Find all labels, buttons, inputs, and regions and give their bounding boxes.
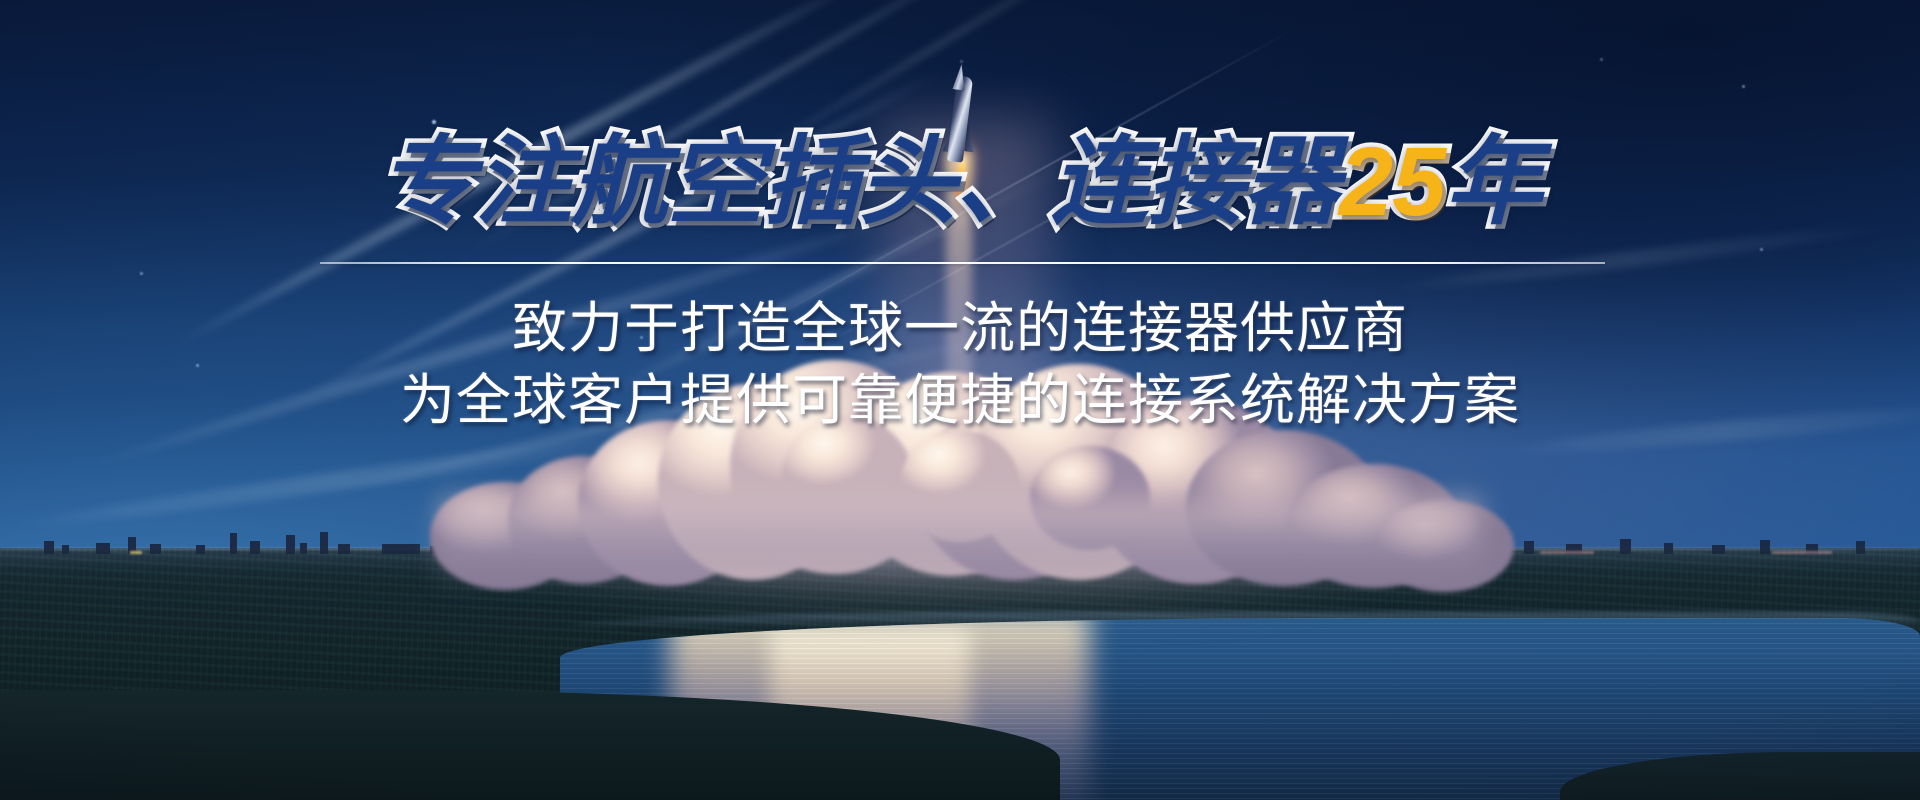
hero-banner: 专注航空插头、连接器25年 致力于打造全球一流的连接器供应商 为全球客户提供可靠…	[0, 0, 1920, 800]
headline-part-blue-2: 年	[1445, 127, 1541, 236]
headline-part-blue-1: 专注航空插头、连接器	[379, 127, 1339, 236]
page-title: 专注航空插头、连接器25年	[0, 133, 1920, 232]
subtitle-line-2: 为全球客户提供可靠便捷的连接系统解决方案	[0, 364, 1920, 436]
banner-subtitle: 致力于打造全球一流的连接器供应商 为全球客户提供可靠便捷的连接系统解决方案	[0, 292, 1920, 436]
divider	[320, 262, 1605, 264]
subtitle-line-1: 致力于打造全球一流的连接器供应商	[0, 292, 1920, 364]
headline-years-number: 25	[1339, 127, 1445, 236]
banner-content: 专注航空插头、连接器25年 致力于打造全球一流的连接器供应商 为全球客户提供可靠…	[0, 0, 1920, 800]
